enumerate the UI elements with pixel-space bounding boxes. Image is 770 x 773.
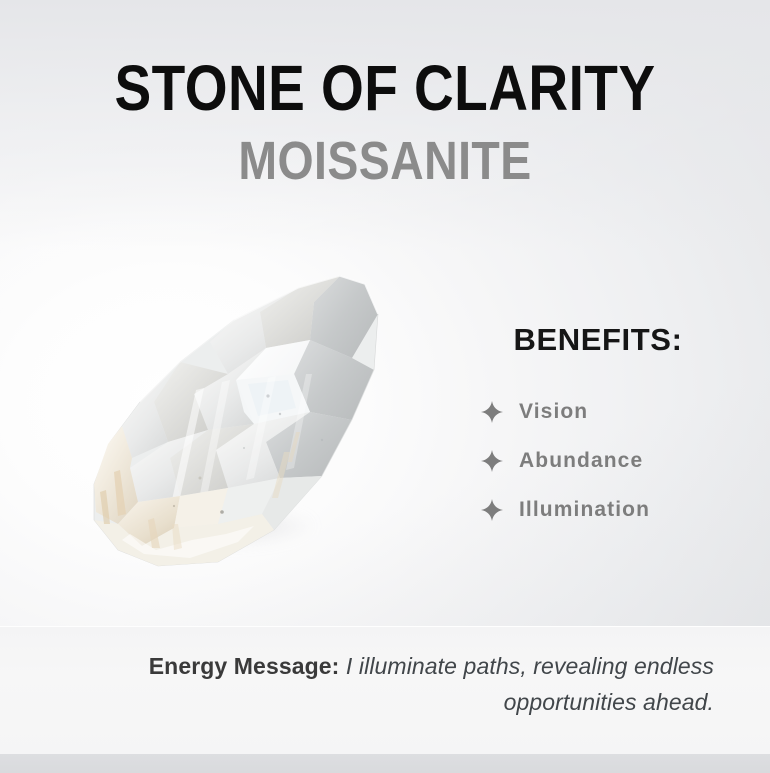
four-point-star-icon (481, 499, 503, 521)
benefits-section: BENEFITS: Vision Abundance Illumination (455, 322, 755, 547)
benefit-label: Illumination (519, 498, 650, 522)
list-item: Vision (455, 400, 755, 424)
bottom-strip (0, 754, 770, 773)
poster-canvas: STONE OF CLARITY MOISSANITE (0, 0, 770, 773)
benefits-heading: BENEFITS: (455, 322, 755, 358)
energy-message-content: Energy Message: I illuminate paths, reve… (58, 648, 714, 720)
crystal-illustration (22, 262, 422, 592)
list-item: Abundance (455, 449, 755, 473)
energy-message-text: I illuminate paths, revealing endless op… (339, 653, 714, 715)
four-point-star-icon (481, 450, 503, 472)
benefit-label: Abundance (519, 449, 643, 473)
title-block: STONE OF CLARITY MOISSANITE (0, 56, 770, 188)
list-item: Illumination (455, 498, 755, 522)
energy-message-label: Energy Message: (149, 653, 340, 679)
four-point-star-icon (481, 401, 503, 423)
energy-message-line: Energy Message: I illuminate paths, reve… (58, 648, 714, 720)
page-subtitle: MOISSANITE (54, 134, 716, 188)
benefit-label: Vision (519, 400, 588, 424)
page-title: STONE OF CLARITY (54, 56, 716, 120)
energy-message-panel: Energy Message: I illuminate paths, reve… (0, 626, 770, 754)
crystal-image (22, 262, 422, 592)
